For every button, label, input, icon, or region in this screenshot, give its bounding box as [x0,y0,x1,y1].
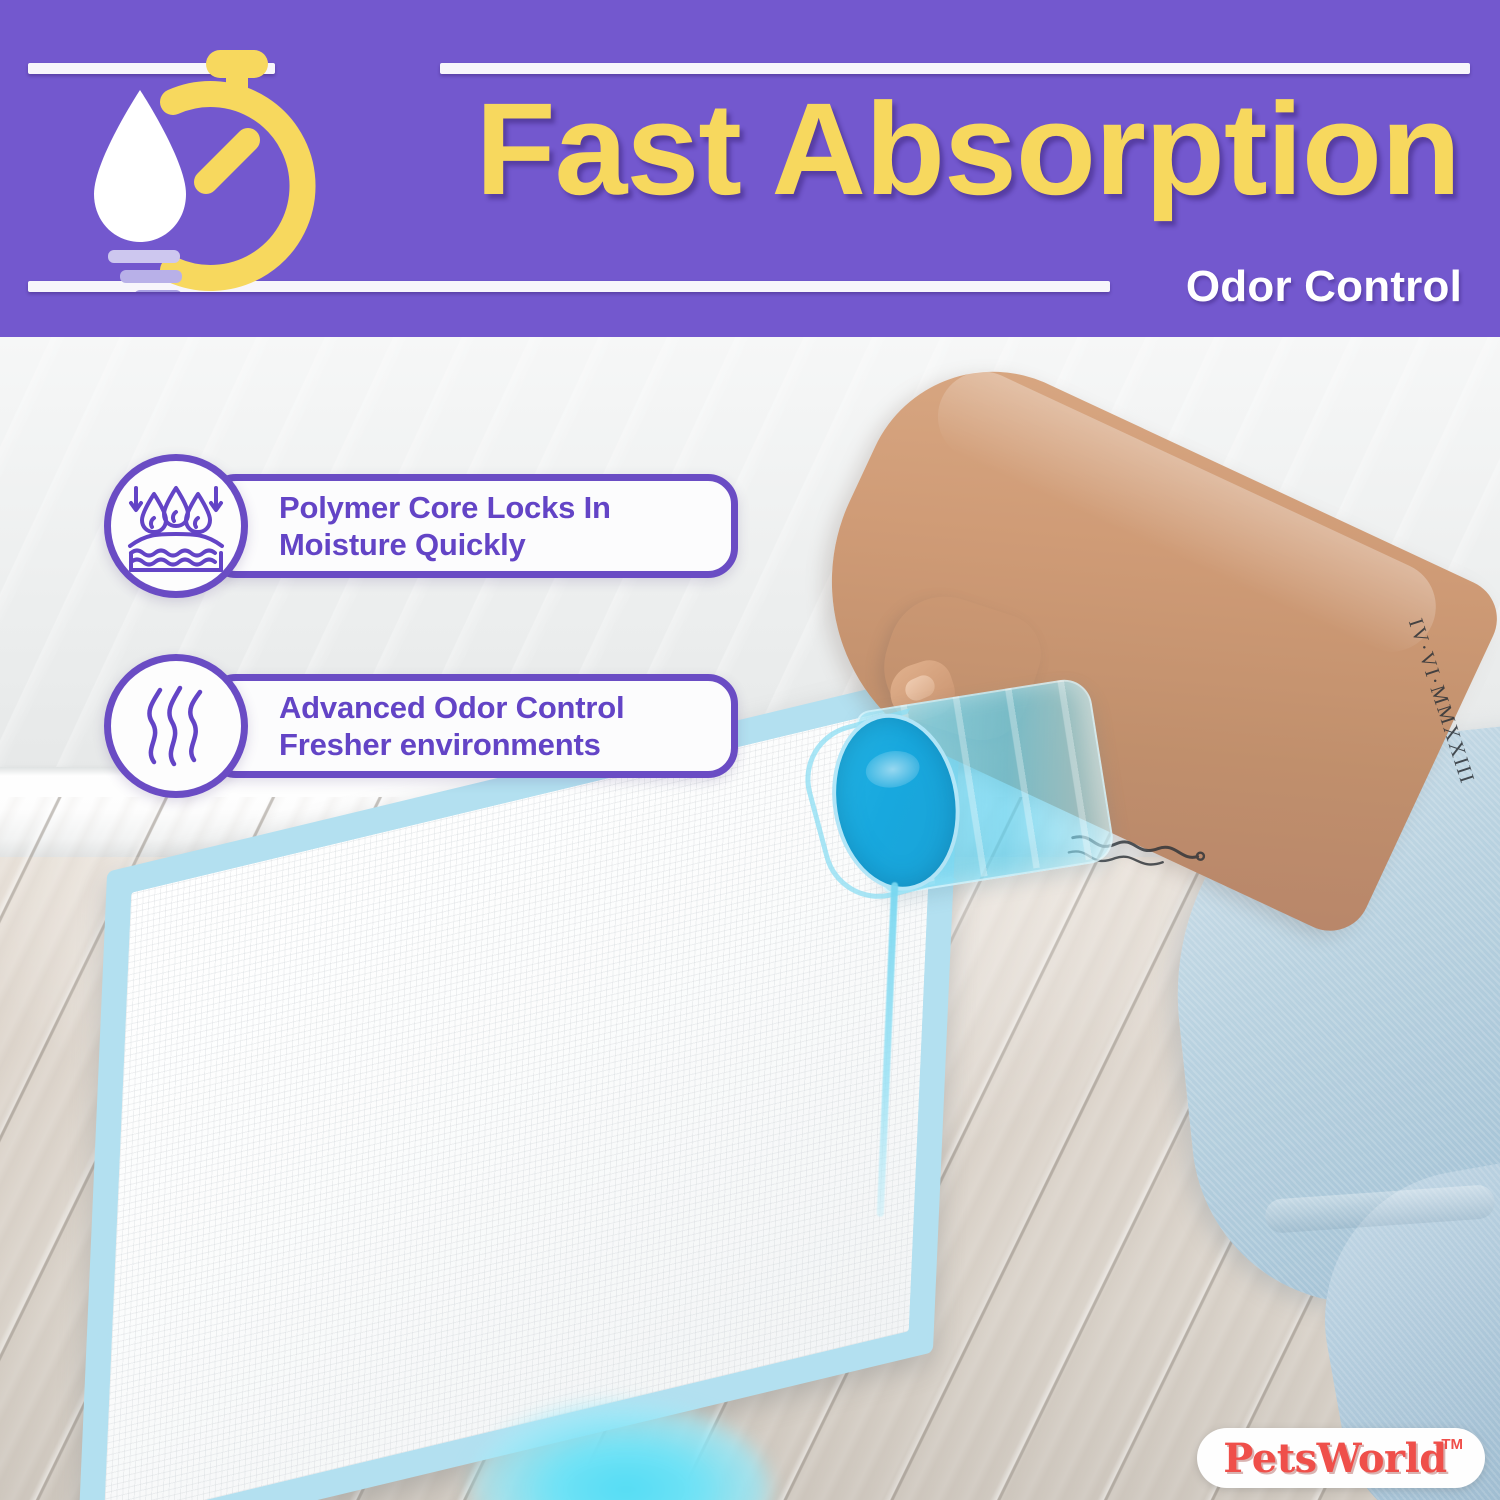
droplet-stopwatch-icon [78,42,338,292]
puppy-pad-wrapper [0,807,1290,1500]
header-rule-top-right [440,63,1470,74]
product-infographic: Fast Absorption Odor Control IV·VI·MMXXI… [0,0,1500,1500]
brand-name: PetsWorld [1223,1435,1447,1482]
puppy-pad-surface [104,699,937,1500]
header-subtitle: Odor Control [1186,262,1462,312]
feature-label: Polymer Core Locks In Moisture Quickly [279,489,611,563]
feature-label: Advanced Odor Control Fresher environmen… [279,689,624,763]
pitcher-gloss [863,747,922,791]
trademark-symbol: TM [1441,1436,1463,1453]
page-title: Fast Absorption [380,82,1460,216]
feature-badge-pill: Advanced Odor Control Fresher environmen… [206,674,738,778]
absorbing-droplets-icon [104,454,248,598]
odor-waves-icon [104,654,248,798]
feature-badge-polymer-core: Polymer Core Locks In Moisture Quickly [104,454,738,598]
feature-badge-odor-control: Advanced Odor Control Fresher environmen… [104,654,738,798]
brand-logo: PetsWorld TM [1197,1428,1485,1488]
header-banner: Fast Absorption Odor Control [0,0,1500,337]
feature-badge-pill: Polymer Core Locks In Moisture Quickly [206,474,738,578]
